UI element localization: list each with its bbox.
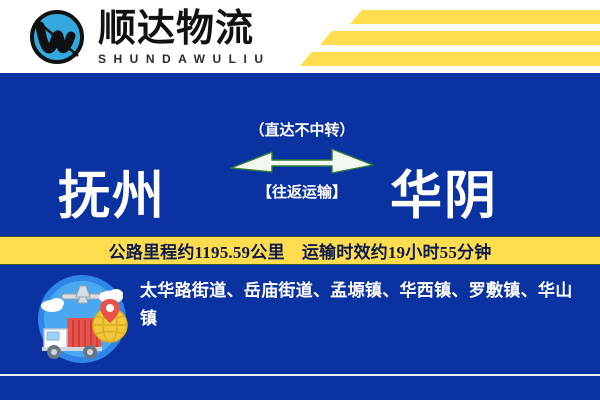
stripe-3: [300, 52, 600, 66]
bottom-divider: [0, 374, 600, 376]
logistics-truck-globe-icon: [28, 273, 136, 365]
route-middle: （直达不中转） 【往返运输】: [228, 119, 376, 202]
distance-duration-bar: 公路里程约1195.59公里 运输时效约19小时55分钟: [0, 236, 600, 265]
coverage-areas-text: 太华路街道、岳庙街道、孟塬镇、华西镇、罗敷镇、华山镇: [140, 277, 582, 333]
brand-name-en: SHUNDAWULIU: [98, 52, 271, 66]
direct-note: （直达不中转）: [228, 119, 376, 140]
brand-text: 顺达物流 SHUNDAWULIU: [98, 8, 271, 66]
banner-header: 顺达物流 SHUNDAWULIU: [0, 0, 600, 73]
route-section: 抚州 （直达不中转） 【往返运输】 华阴: [0, 73, 600, 236]
brand-name-cn: 顺达物流: [98, 8, 271, 50]
round-trip-note: 【往返运输】: [228, 181, 376, 202]
double-headed-arrow-icon: [228, 146, 376, 176]
distance-duration-text: 公路里程约1195.59公里 运输时效约19小时55分钟: [109, 238, 492, 263]
destination-city: 华阴: [390, 154, 498, 229]
brand-logo: 顺达物流 SHUNDAWULIU: [26, 6, 271, 68]
stripe-1: [350, 10, 600, 24]
coverage-section: 太华路街道、岳庙街道、孟塬镇、华西镇、罗敷镇、华山镇: [0, 265, 600, 400]
origin-city: 抚州: [58, 154, 166, 229]
decorative-stripes: [270, 0, 600, 73]
logistics-route-banner: 顺达物流 SHUNDAWULIU 抚州 （直达不中转） 【往返运输】 华阴 公路…: [0, 0, 600, 400]
stripe-2: [320, 31, 600, 45]
logo-swoosh-icon: [26, 6, 88, 68]
circle-swoosh-logo-icon: [26, 6, 88, 68]
